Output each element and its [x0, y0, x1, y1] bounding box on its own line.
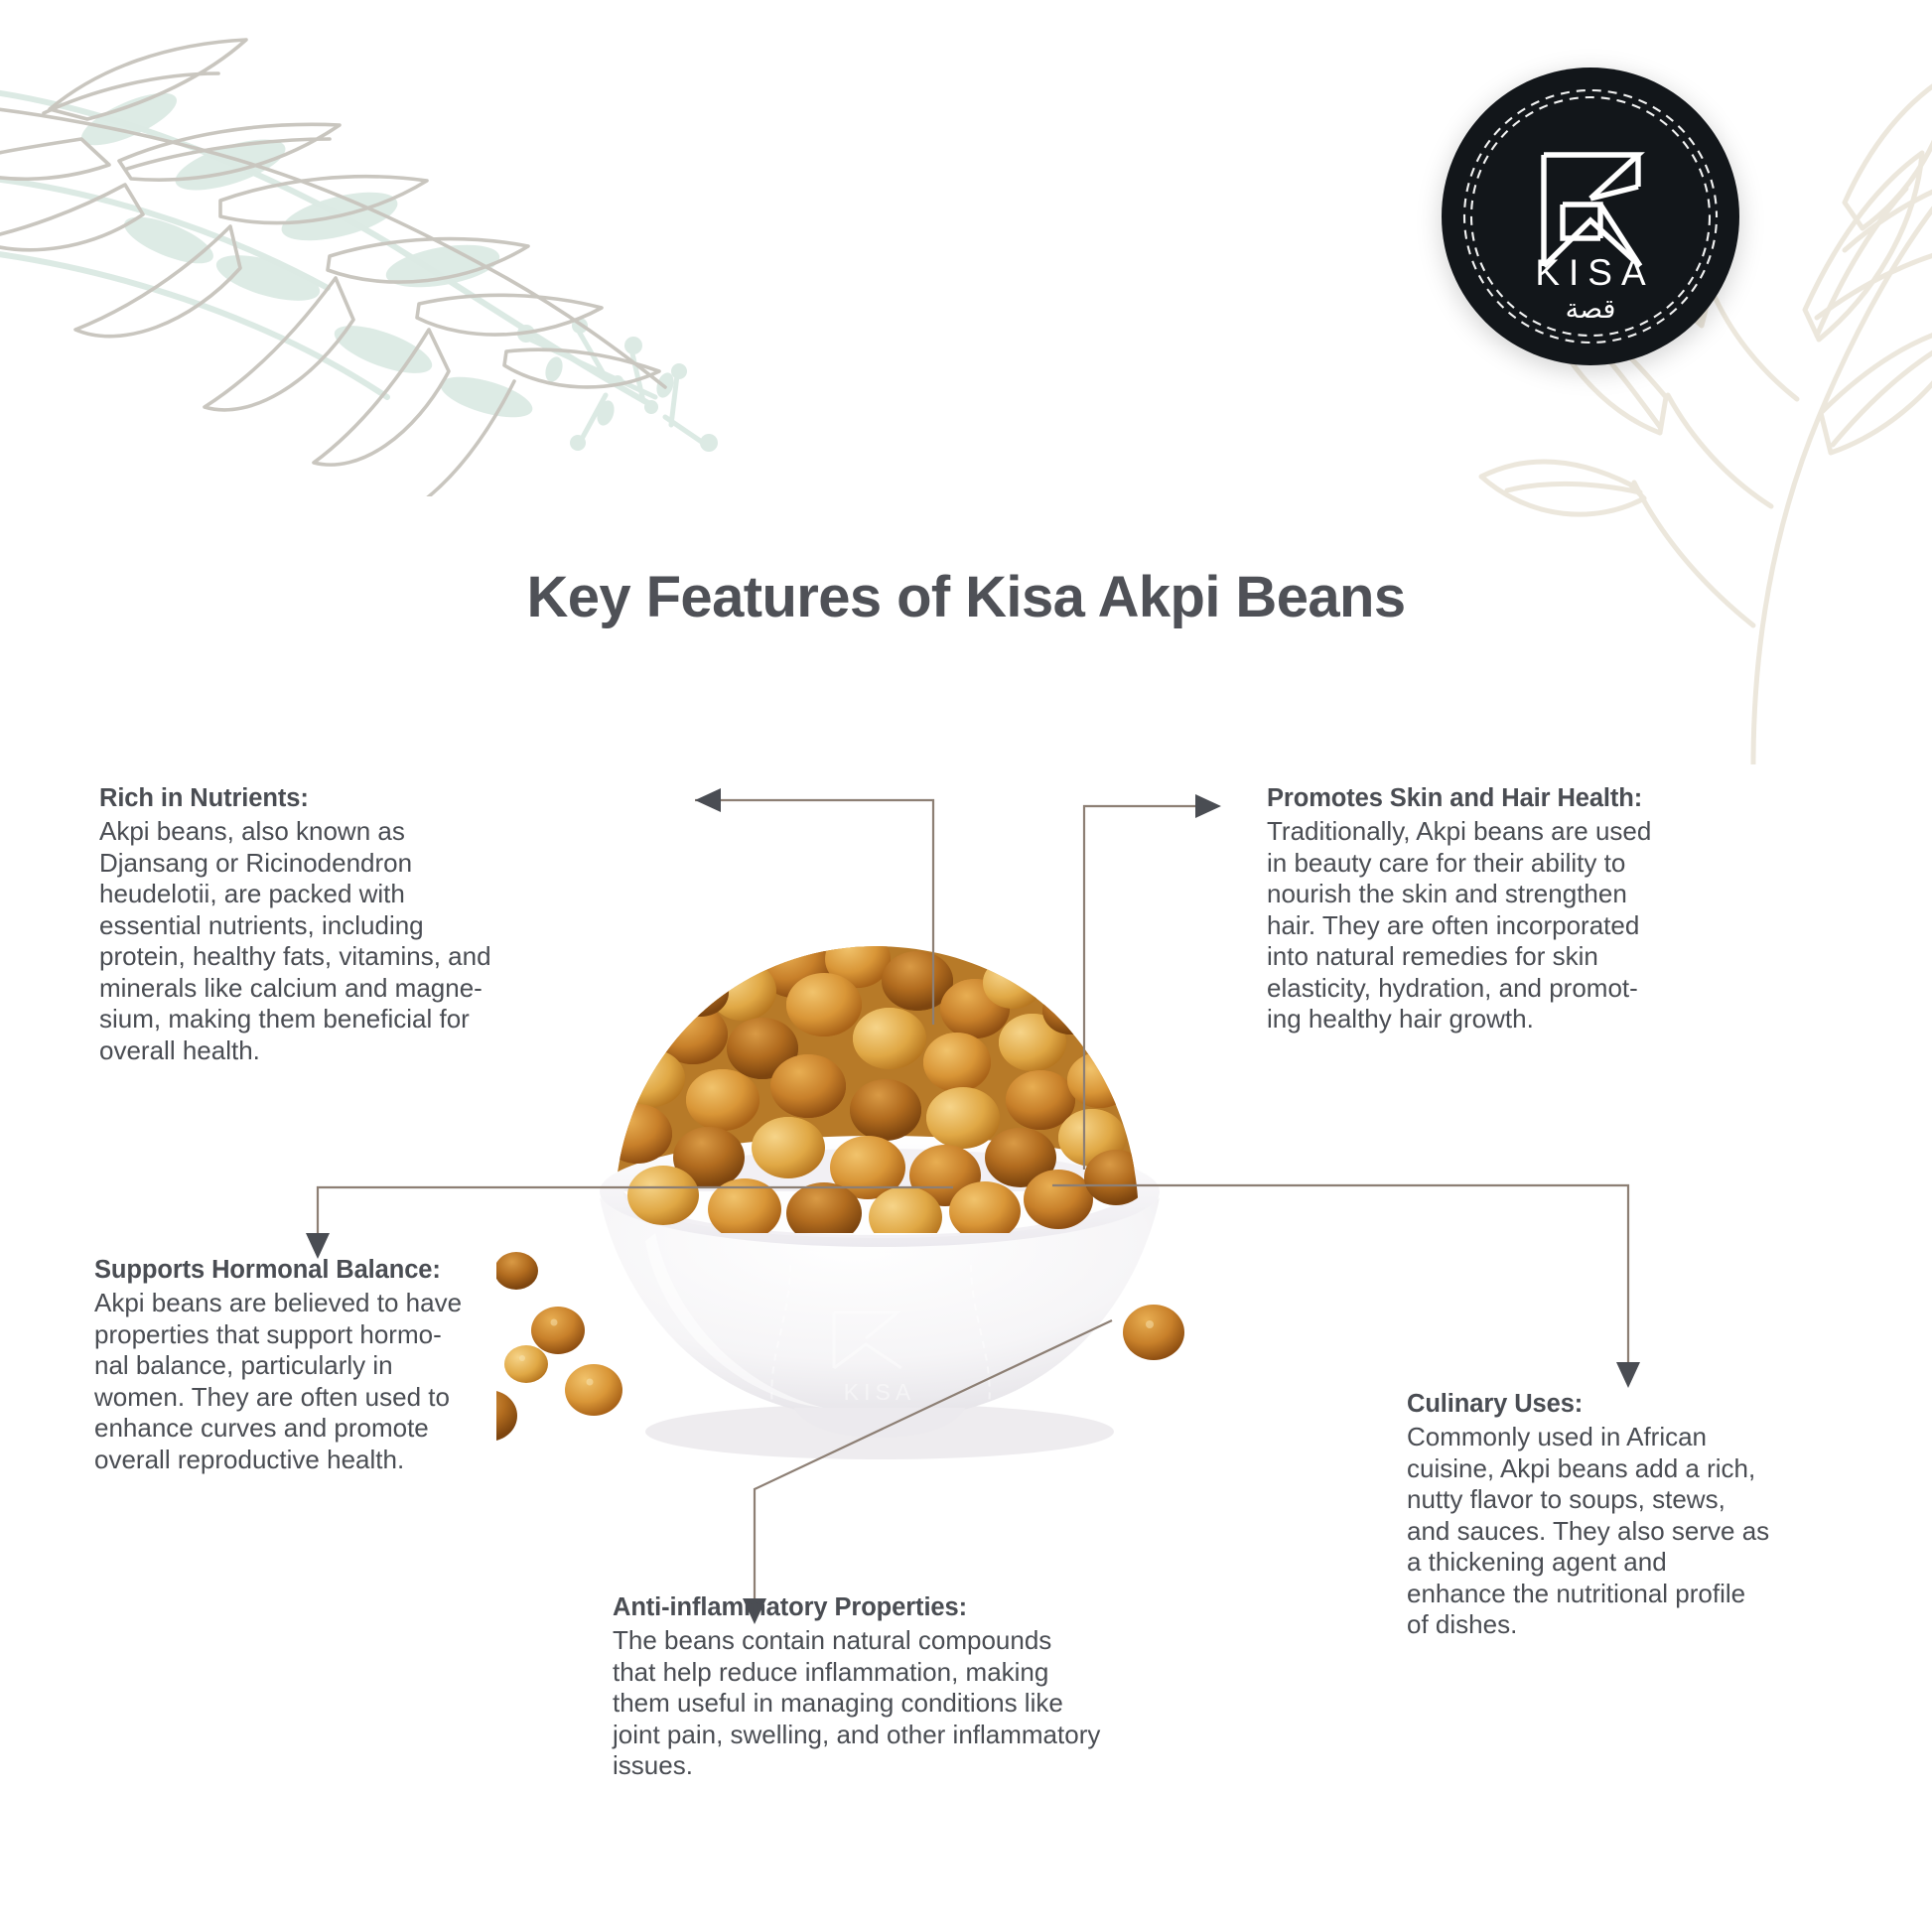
- feature-body: Traditionally, Akpi beans are used in be…: [1267, 816, 1833, 1035]
- page-title: Key Features of Kisa Akpi Beans: [0, 564, 1932, 630]
- decorative-leaves-top-left-icon: [0, 0, 784, 496]
- feature-anti-inflammatory-properties: Anti-inflammatory Properties: The beans …: [613, 1593, 1308, 1782]
- feature-title: Culinary Uses:: [1407, 1390, 1932, 1419]
- feature-promotes-skin-and-hair-health: Promotes Skin and Hair Health: Tradition…: [1267, 784, 1833, 1035]
- feature-title: Rich in Nutrients:: [99, 784, 665, 813]
- logo-arabic-text: قصة: [1442, 294, 1739, 325]
- feature-title: Promotes Skin and Hair Health:: [1267, 784, 1833, 813]
- feature-rich-in-nutrients: Rich in Nutrients: Akpi beans, also know…: [99, 784, 665, 1067]
- svg-text:KISA: KISA: [844, 1379, 915, 1405]
- arrowhead-skinhair: [1195, 794, 1221, 818]
- feature-body: Commonly used in African cuisine, Akpi b…: [1407, 1422, 1932, 1641]
- feature-body: Akpi beans, also known as Djansang or Ri…: [99, 816, 665, 1067]
- logo-wordmark: KISA: [1442, 252, 1739, 294]
- feature-supports-hormonal-balance: Supports Hormonal Balance: Akpi beans ar…: [94, 1256, 645, 1475]
- arrowhead-nutrients: [695, 788, 721, 812]
- kisa-logo: KISA قصة: [1442, 68, 1739, 365]
- feature-body: Akpi beans are believed to have properti…: [94, 1288, 645, 1475]
- feature-title: Supports Hormonal Balance:: [94, 1256, 645, 1285]
- feature-title: Anti-inflammatory Properties:: [613, 1593, 1308, 1622]
- feature-culinary-uses: Culinary Uses: Commonly used in African …: [1407, 1390, 1932, 1641]
- arrowhead-culinary: [1616, 1362, 1640, 1388]
- feature-body: The beans contain natural compounds that…: [613, 1625, 1308, 1782]
